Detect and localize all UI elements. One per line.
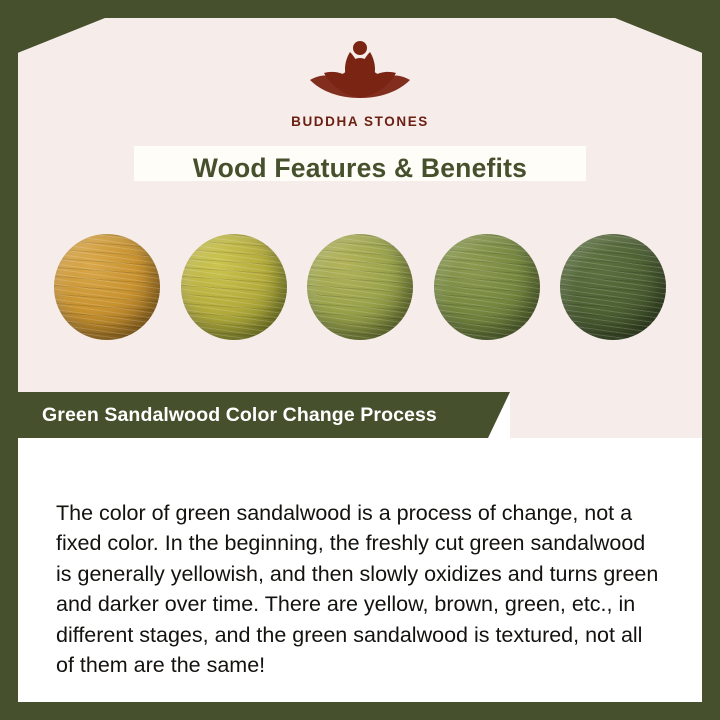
wood-grain-texture <box>307 234 413 340</box>
lotus-meditation-icon <box>18 32 702 110</box>
bead-stage-4-green <box>434 234 540 340</box>
wood-grain-texture <box>54 234 160 340</box>
section-header-label: Green Sandalwood Color Change Process <box>42 392 437 438</box>
bead-stage-2-yellow-green <box>181 234 287 340</box>
wood-grain-texture <box>181 234 287 340</box>
section-bar-filler <box>510 392 702 438</box>
poster-root: BUDDHA STONES Wood Features & Benefits G… <box>0 0 720 720</box>
page-title: Wood Features & Benefits <box>193 153 527 184</box>
brand-name: BUDDHA STONES <box>18 114 702 129</box>
brand-logo-block: BUDDHA STONES <box>18 32 702 129</box>
wood-grain-texture <box>560 234 666 340</box>
poster-inner-card: BUDDHA STONES Wood Features & Benefits G… <box>18 18 702 702</box>
bead-swatch-row <box>18 181 702 392</box>
header-band: BUDDHA STONES Wood Features & Benefits <box>18 18 702 181</box>
description-paragraph: The color of green sandalwood is a proce… <box>56 498 664 681</box>
description-area: The color of green sandalwood is a proce… <box>18 438 702 702</box>
section-header-bar: Green Sandalwood Color Change Process <box>18 392 702 438</box>
wood-grain-texture <box>434 234 540 340</box>
bead-stage-3-olive <box>307 234 413 340</box>
bead-stage-5-dark-green <box>560 234 666 340</box>
bead-stage-1-yellow <box>54 234 160 340</box>
